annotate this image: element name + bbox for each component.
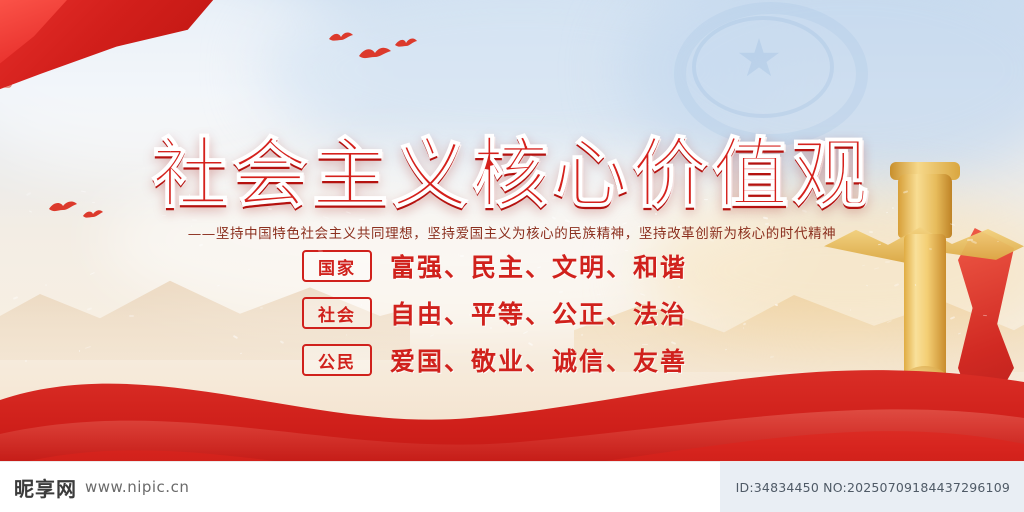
footer-bar: 昵享网 www.nipic.cn ID:34834450 NO:20250709…	[0, 461, 1024, 512]
value-tag-country: 国家	[302, 250, 372, 282]
value-tag-society: 社会	[302, 297, 372, 329]
asset-id-badge: ID:34834450 NO:20250709184437296109	[720, 462, 1024, 512]
flying-doves-icon	[358, 44, 392, 64]
value-text-society: 自由、平等、公正、法治	[390, 295, 687, 331]
speckle-dot	[192, 219, 197, 221]
speckle-dot	[850, 309, 851, 311]
speckle-dot	[642, 344, 648, 345]
list-item: 社会 自由、平等、公正、法治	[302, 295, 722, 331]
speckle-dot	[129, 315, 134, 317]
brand-logo[interactable]: 昵享网 www.nipic.cn	[14, 473, 189, 502]
poster-canvas: 社会主义核心价值观 ——坚持中国特色社会主义共同理想，坚持爱国主义为核心的民族精…	[0, 0, 1024, 512]
flying-doves-icon	[394, 36, 418, 51]
speckle-dot	[885, 261, 890, 263]
speckle-dot	[727, 227, 729, 228]
speckle-dot	[482, 227, 484, 229]
speckle-dot	[460, 255, 464, 257]
value-tag-citizen: 公民	[302, 344, 372, 376]
speckle-dot	[92, 202, 95, 203]
speckle-dot	[199, 243, 204, 246]
speckle-dot	[929, 248, 932, 251]
value-text-citizen: 爱国、敬业、诚信、友善	[390, 342, 687, 378]
speckle-dot	[454, 230, 459, 233]
flying-doves-icon	[328, 30, 354, 46]
brand-name-cn: 昵享网	[14, 473, 77, 502]
list-item: 国家 富强、民主、文明、和谐	[302, 248, 722, 284]
brand-url[interactable]: www.nipic.cn	[85, 478, 189, 496]
list-item: 公民 爱国、敬业、诚信、友善	[302, 342, 722, 378]
